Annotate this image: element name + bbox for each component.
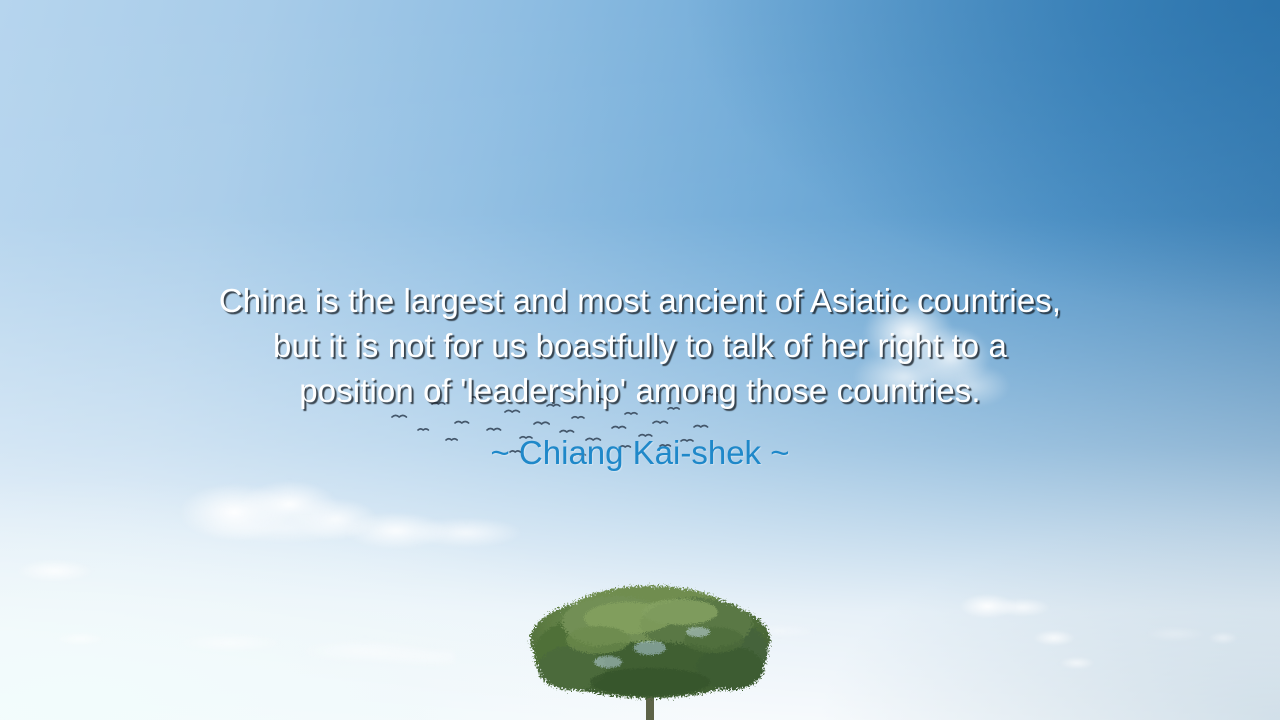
quote-attribution: ~ Chiang Kai-shek ~ (0, 430, 1280, 475)
quote-block: China is the largest and most ancient of… (0, 278, 1280, 475)
quote-line-3: position of 'leadership' among those cou… (0, 368, 1280, 413)
quote-line-1: China is the largest and most ancient of… (0, 278, 1280, 323)
quote-image-canvas: China is the largest and most ancient of… (0, 0, 1280, 720)
tree-icon (500, 578, 800, 720)
quote-line-2: but it is not for us boastfully to talk … (0, 323, 1280, 368)
